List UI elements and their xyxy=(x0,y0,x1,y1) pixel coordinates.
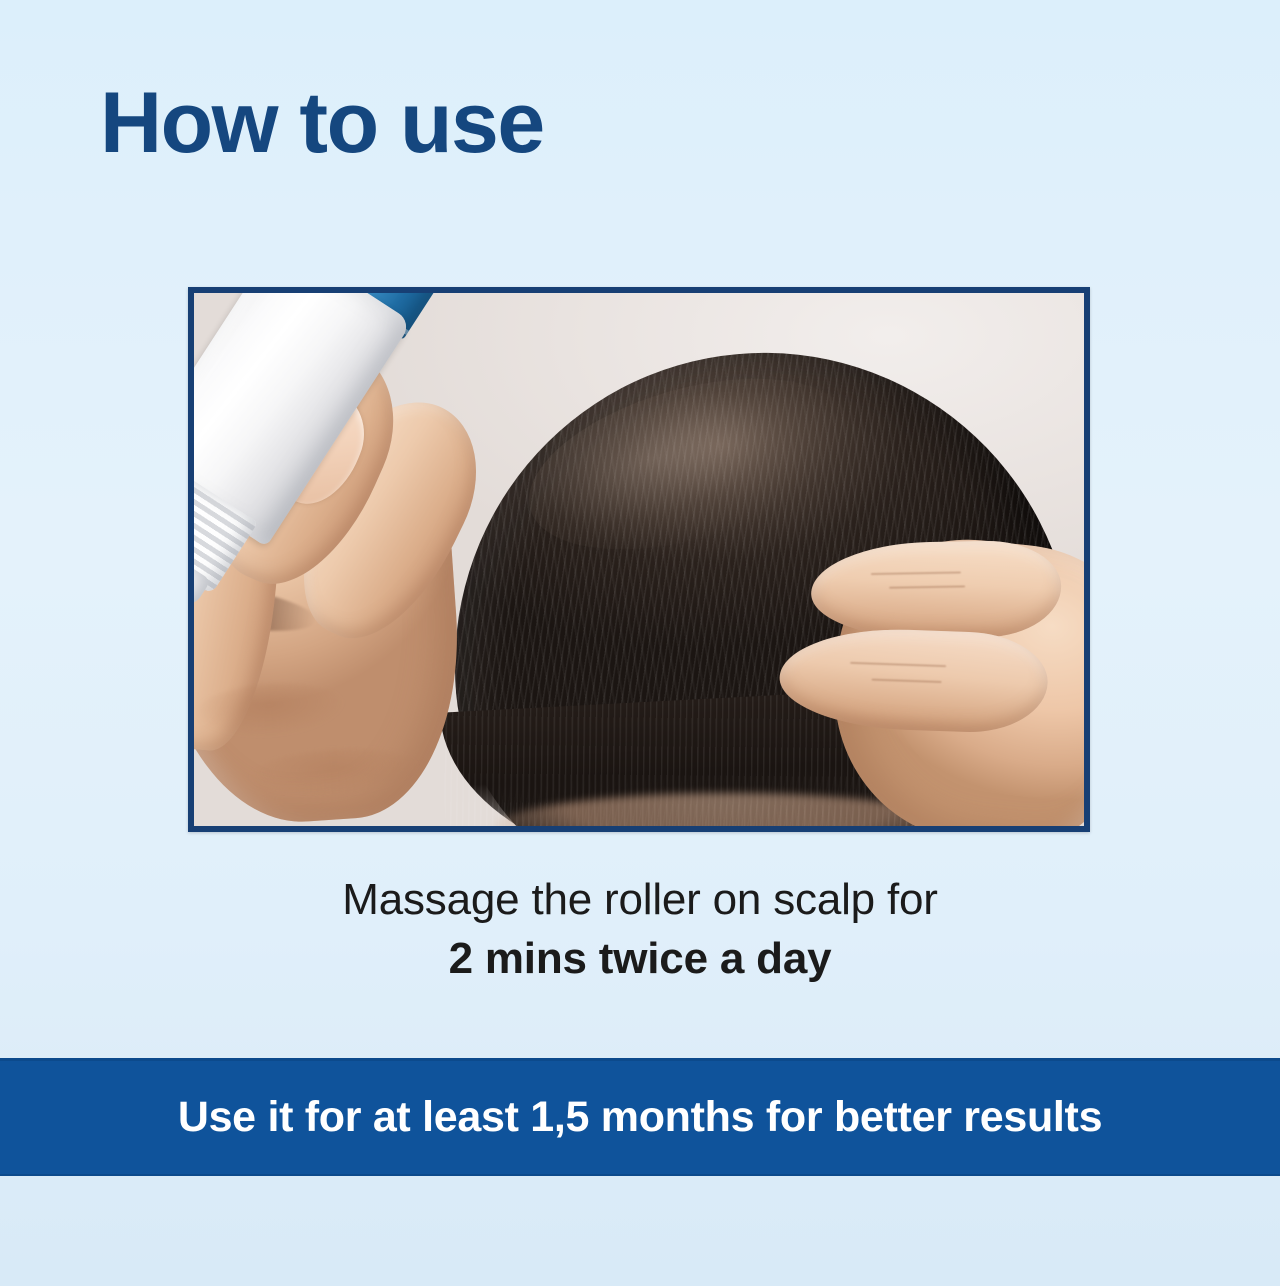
instruction-photo: HAIR 4U xyxy=(194,293,1084,826)
instruction-photo-frame: HAIR 4U xyxy=(188,287,1090,832)
caption-line-primary: Massage the roller on scalp for xyxy=(0,872,1280,927)
left-hand: HAIR 4U xyxy=(194,293,563,826)
right-hand-finger-upper xyxy=(810,540,1062,640)
instruction-caption: Massage the roller on scalp for 2 mins t… xyxy=(0,872,1280,987)
right-hand xyxy=(779,493,1084,826)
right-hand-finger-lower xyxy=(778,625,1049,734)
bottom-banner: Use it for at least 1,5 months for bette… xyxy=(0,1058,1280,1176)
how-to-use-panel: How to use xyxy=(0,0,1280,1286)
banner-text: Use it for at least 1,5 months for bette… xyxy=(178,1093,1102,1142)
page-title: How to use xyxy=(100,80,544,166)
caption-line-emphasis: 2 mins twice a day xyxy=(0,931,1280,986)
